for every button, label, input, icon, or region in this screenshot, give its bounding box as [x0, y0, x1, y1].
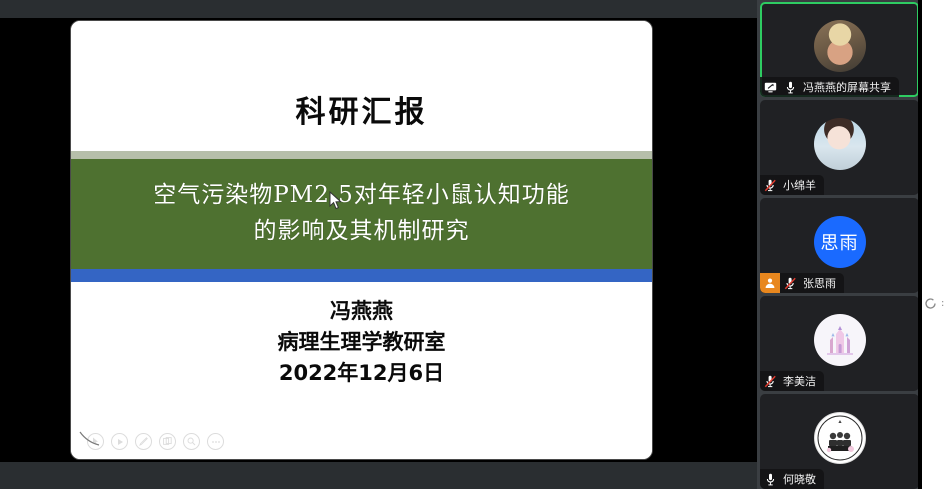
- slide-accent-strip: [71, 151, 652, 159]
- side-panel[interactable]: :: [922, 0, 947, 489]
- participant-tile-xiaomianyang[interactable]: 小绵羊: [760, 100, 919, 195]
- host-icon: [760, 273, 780, 293]
- bottom-letterbox-strip: [0, 462, 757, 489]
- participant-tile-limeijie[interactable]: 李美洁: [760, 296, 919, 391]
- family-photo-icon: [817, 415, 863, 461]
- mic-on-icon: [760, 469, 780, 489]
- refresh-spinner-icon[interactable]: [924, 297, 937, 310]
- participant-name: 李美洁: [780, 373, 816, 389]
- slide-date: 2022年12月6日: [71, 358, 652, 389]
- slide-author-name: 冯燕燕: [71, 296, 652, 327]
- name-badge: 冯燕燕的屏幕共享: [760, 77, 899, 97]
- avatar: [814, 20, 866, 72]
- participant-name: 张思雨: [800, 275, 836, 291]
- mic-muted-icon: [760, 175, 780, 195]
- avatar: [814, 314, 866, 366]
- participant-name: 小绵羊: [780, 177, 816, 193]
- avatar: [814, 412, 866, 464]
- zoom-icon[interactable]: [183, 433, 200, 450]
- slide-subtitle-line-1: 空气污染物PM2.5对年轻小鼠认知功能: [71, 177, 652, 213]
- powerpoint-slide[interactable]: 科研汇报 空气污染物PM2.5对年轻小鼠认知功能 的影响及其机制研究 冯燕燕 病…: [70, 20, 653, 460]
- castle-icon: [823, 324, 857, 356]
- pointer-icon[interactable]: [87, 433, 104, 450]
- slide-department: 病理生理学教研室: [71, 327, 652, 358]
- toolbar-separator-line: [87, 450, 636, 451]
- shared-screen-stage: 科研汇报 空气污染物PM2.5对年轻小鼠认知功能 的影响及其机制研究 冯燕燕 病…: [0, 18, 757, 462]
- participant-name: 何晓敬: [780, 471, 816, 487]
- slide-subtitle-line-2: 的影响及其机制研究: [71, 213, 652, 249]
- slide-green-band: 空气污染物PM2.5对年轻小鼠认知功能 的影响及其机制研究: [71, 159, 652, 269]
- participant-tile-zhangsiyu[interactable]: 思雨 张思雨: [760, 198, 919, 293]
- mic-muted-icon: [760, 371, 780, 391]
- name-badge: 李美洁: [760, 371, 824, 391]
- name-badge: 何晓敬: [760, 469, 824, 489]
- slide-subtitle: 空气污染物PM2.5对年轻小鼠认知功能 的影响及其机制研究: [71, 177, 652, 249]
- name-badge: 张思雨: [760, 273, 844, 293]
- app-root: 科研汇报 空气污染物PM2.5对年轻小鼠认知功能 的影响及其机制研究 冯燕燕 病…: [0, 0, 947, 489]
- slides-icon[interactable]: [159, 433, 176, 450]
- more-icon[interactable]: [207, 433, 224, 450]
- screen-share-icon: [760, 77, 780, 97]
- participant-tile-screen-share[interactable]: 冯燕燕的屏幕共享: [760, 2, 919, 97]
- play-icon[interactable]: [111, 433, 128, 450]
- slide-author-block: 冯燕燕 病理生理学教研室 2022年12月6日: [71, 296, 652, 389]
- mic-muted-icon: [780, 273, 800, 293]
- panel-truncated-text: :: [941, 299, 944, 309]
- avatar: 思雨: [814, 216, 866, 268]
- slide-title: 科研汇报: [71, 87, 652, 131]
- participant-name: 冯燕燕的屏幕共享: [800, 79, 891, 95]
- participant-filmstrip[interactable]: 冯燕燕的屏幕共享 小绵羊 思雨: [757, 0, 922, 489]
- pen-icon[interactable]: [135, 433, 152, 450]
- name-badge: 小绵羊: [760, 175, 824, 195]
- avatar: [814, 118, 866, 170]
- mouse-cursor-icon: [329, 191, 342, 210]
- participant-tile-hexiaojing[interactable]: 何晓敬: [760, 394, 919, 489]
- top-letterbox-strip: [0, 0, 757, 18]
- slide-canvas: 科研汇报 空气污染物PM2.5对年轻小鼠认知功能 的影响及其机制研究 冯燕燕 病…: [71, 21, 652, 459]
- mic-on-icon: [780, 77, 800, 97]
- presentation-toolbar[interactable]: [87, 433, 224, 450]
- slide-blue-bar: [71, 269, 652, 282]
